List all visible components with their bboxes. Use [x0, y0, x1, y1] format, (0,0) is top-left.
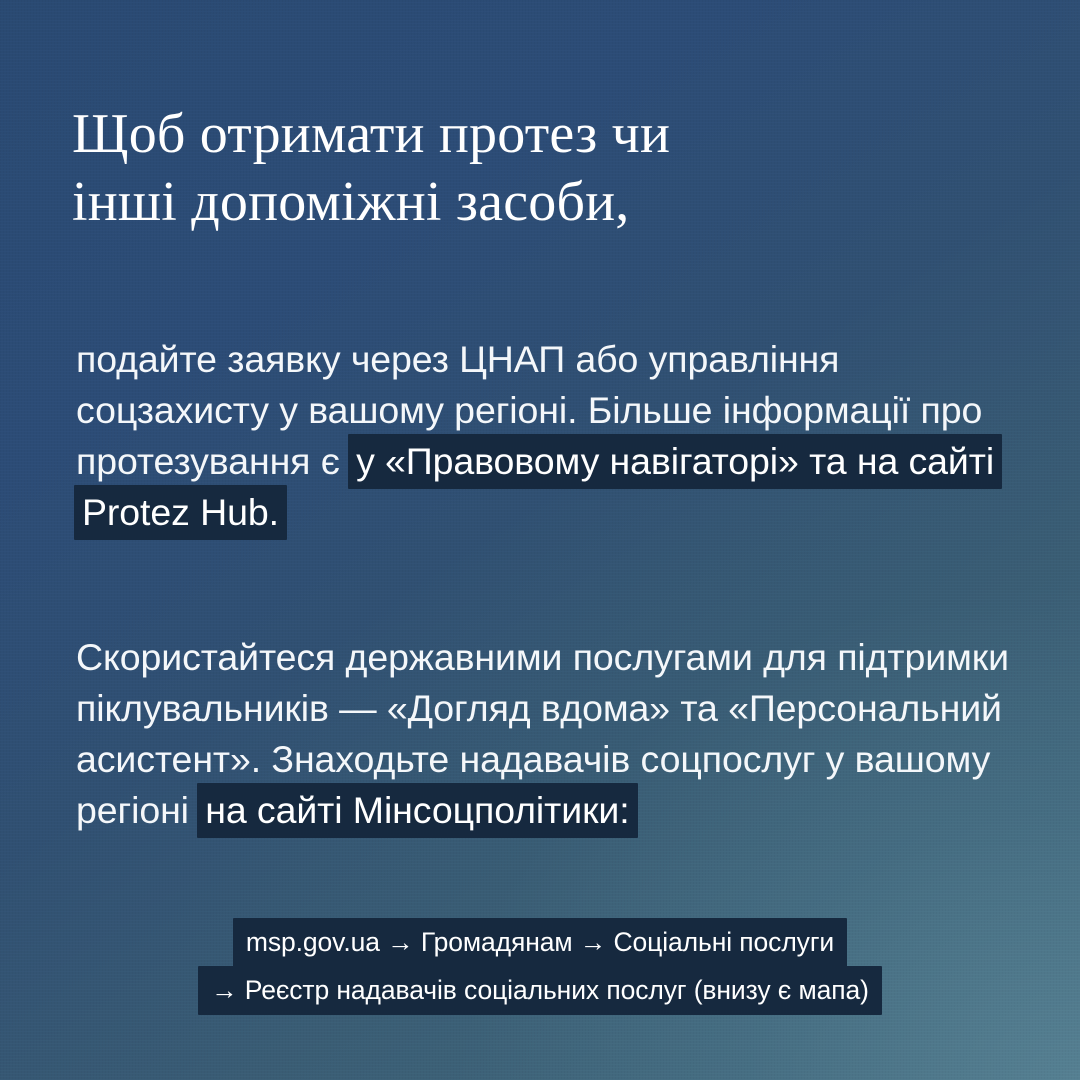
paragraph-social-services-highlight: на сайті Мінсоцполітики: [197, 783, 637, 838]
info-card: Щоб отримати протез чи інші допоміжні за… [0, 0, 1080, 1080]
breadcrumb: msp.gov.ua → Громадянам → Соціальні посл… [0, 918, 1080, 1015]
paragraph-prosthetics: подайте заявку через ЦНАП або управління… [76, 334, 1028, 538]
breadcrumb-line-2-text: → Реєстр надавачів соціальних послуг (вн… [198, 966, 882, 1015]
breadcrumb-line-1-text: msp.gov.ua → Громадянам → Соціальні посл… [233, 918, 847, 967]
page-title: Щоб отримати протез чи інші допоміжні за… [72, 100, 1012, 236]
paragraph-social-services: Скористайтеся державними послугами для п… [76, 632, 1028, 836]
card-content: Щоб отримати протез чи інші допоміжні за… [0, 0, 1080, 1080]
breadcrumb-line-1: msp.gov.ua → Громадянам → Соціальні посл… [0, 918, 1080, 967]
breadcrumb-line-2: → Реєстр надавачів соціальних послуг (вн… [0, 967, 1080, 1015]
